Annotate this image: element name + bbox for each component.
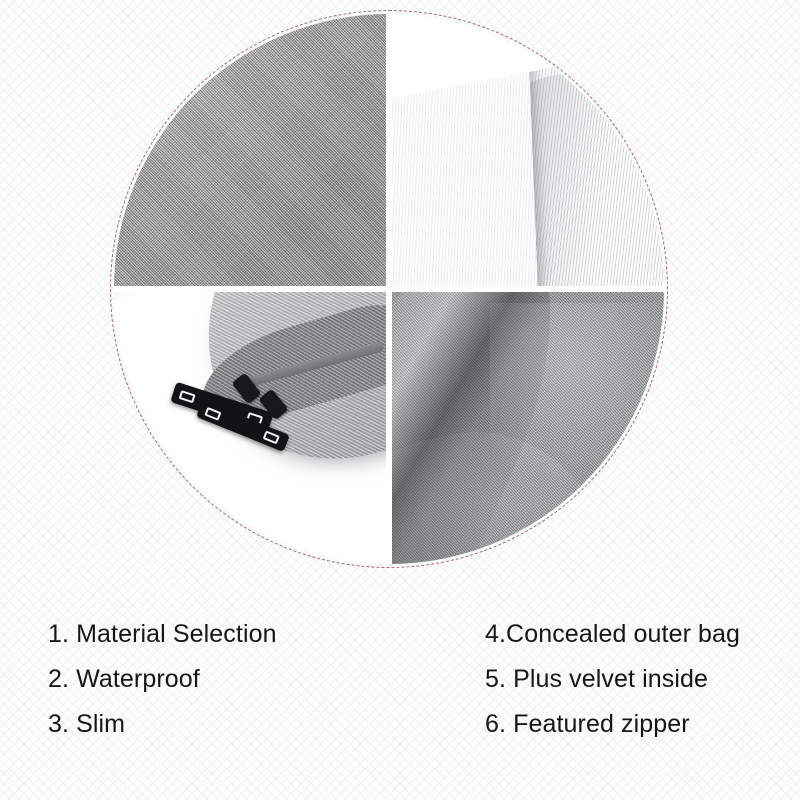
collage-quadrant-outer-bag [389,289,664,564]
feature-list: 1. Material Selection 2. Waterproof 3. S… [0,612,800,800]
woven-fabric-texture [114,14,386,286]
quadrant-image-velvet [392,14,664,286]
feature-item-4: 4.Concealed outer bag [485,612,740,657]
collage-quadrant-zipper [114,289,389,564]
product-infographic-page: 1. Material Selection 2. Waterproof 3. S… [0,0,800,800]
feature-list-left-column: 1. Material Selection 2. Waterproof 3. S… [48,612,277,747]
collage-quadrant-material-selection [114,14,389,289]
feature-list-right-column: 4.Concealed outer bag 5. Plus velvet ins… [485,612,740,747]
feature-collage [110,10,668,568]
feature-item-6: 6. Featured zipper [485,702,740,747]
zipper-pull-slot-right [262,431,279,445]
feature-item-2: 2. Waterproof [48,657,277,702]
quadrant-image-woven-fabric [114,14,386,286]
quadrant-image-zipper [114,292,386,564]
quadrant-image-folded-fabric [392,292,664,564]
feature-item-1: 1. Material Selection [48,612,277,657]
zipper-pull-slot-left [179,389,196,402]
feature-item-5: 5. Plus velvet inside [485,657,740,702]
folded-fabric-highlight [490,303,664,493]
zipper-pull-slot-left [204,407,221,421]
feature-item-3: 3. Slim [48,702,277,747]
collage-quadrant-velvet-lining [389,14,664,289]
collage-circle-clip [114,14,664,564]
